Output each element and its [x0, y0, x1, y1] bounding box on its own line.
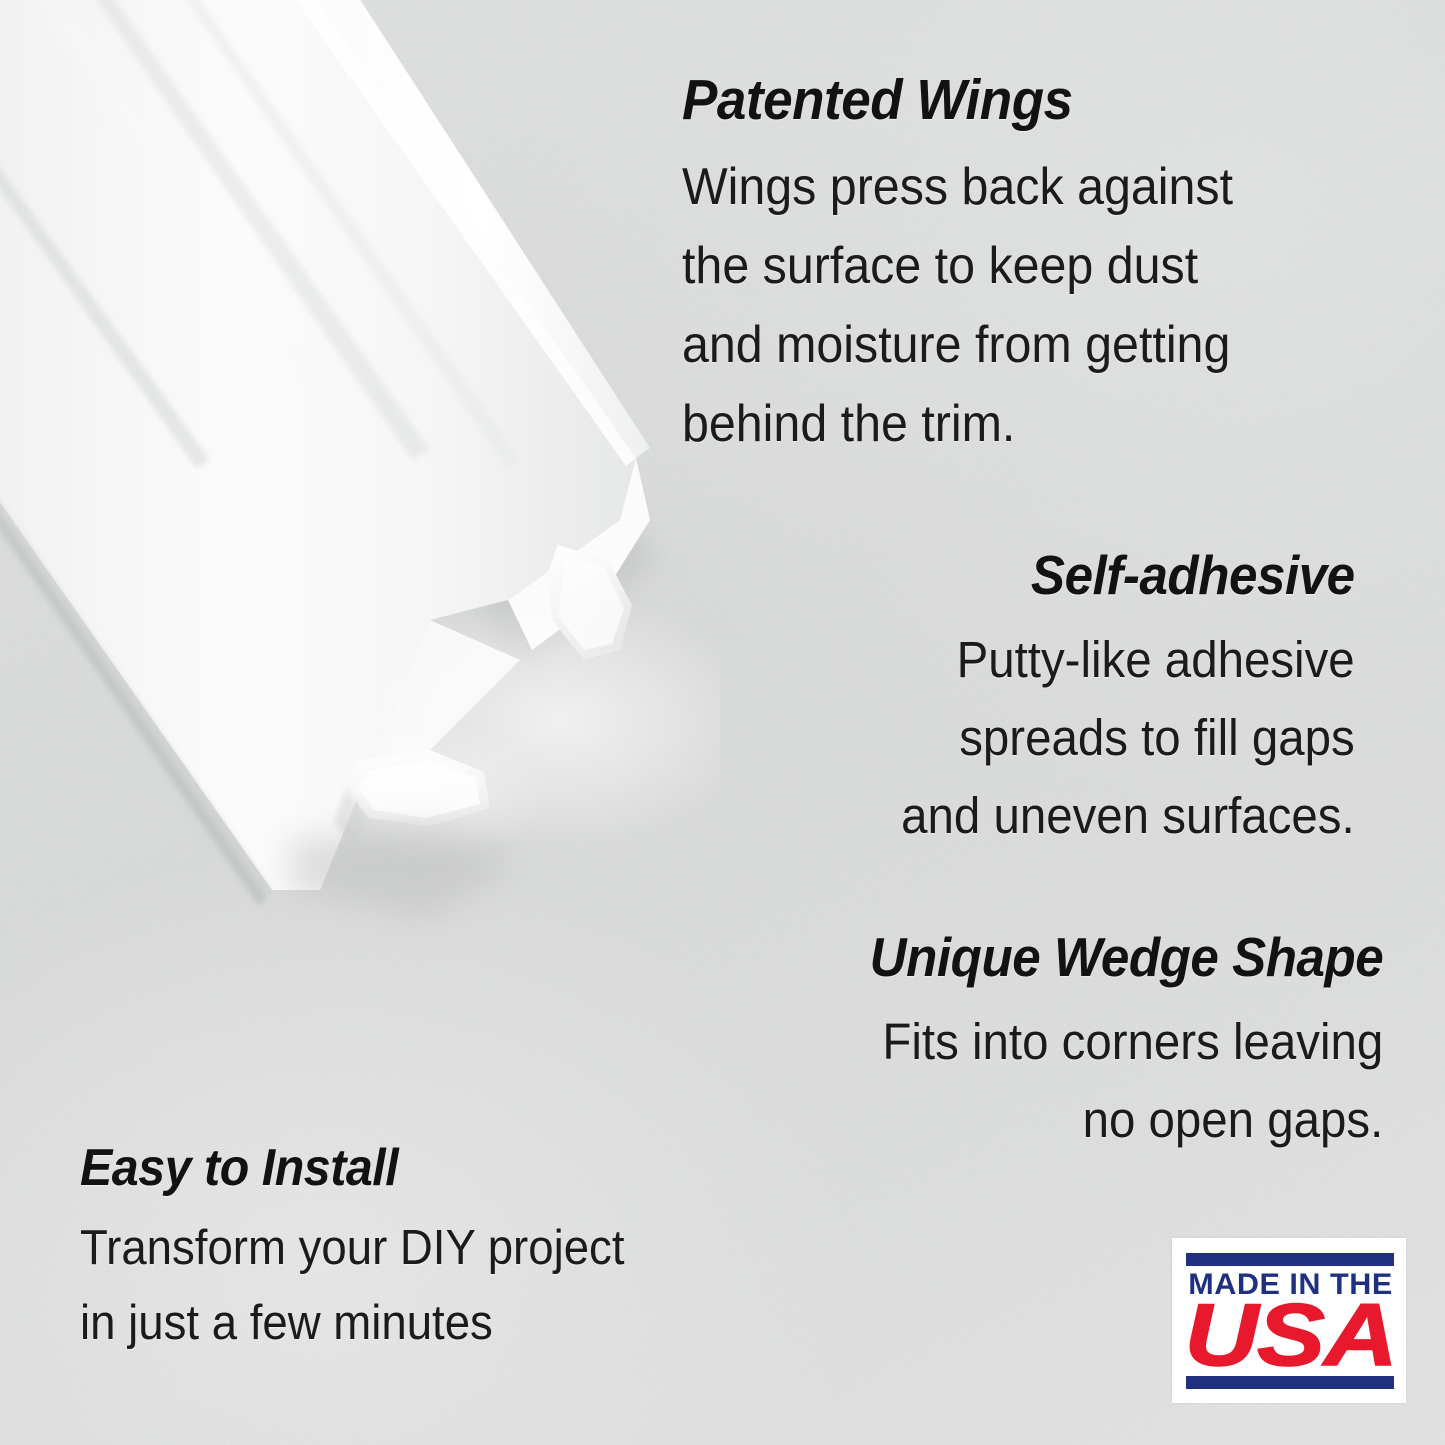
feature-line: the surface to keep dust — [682, 240, 1233, 292]
badge-usa-text: USA — [1168, 1296, 1413, 1374]
feature-line: no open gaps. — [869, 1094, 1383, 1145]
feature-block-unique-wedge-shape: Unique Wedge Shape Fits into corners lea… — [831, 930, 1383, 1145]
feature-line: Transform your DIY project — [80, 1224, 624, 1273]
product-photo — [0, 0, 720, 970]
feature-block-patented-wings: Patented Wings Wings press back against … — [682, 72, 1275, 450]
feature-heading-self-adhesive: Self-adhesive — [901, 548, 1355, 603]
feature-line: Fits into corners leaving — [869, 1016, 1383, 1067]
made-in-usa-badge: MADE IN THE USA — [1172, 1238, 1406, 1403]
feature-line: spreads to fill gaps — [901, 712, 1355, 763]
feature-line: Putty-like adhesive — [901, 634, 1355, 685]
feature-line: and uneven surfaces. — [901, 790, 1355, 841]
feature-block-self-adhesive: Self-adhesive Putty-like adhesive spread… — [867, 548, 1355, 841]
feature-line: in just a few minutes — [80, 1299, 624, 1348]
infographic-canvas: Patented Wings Wings press back against … — [0, 0, 1445, 1445]
feature-heading-easy-to-install: Easy to Install — [80, 1142, 624, 1194]
feature-line: and moisture from getting — [682, 319, 1233, 371]
feature-heading-patented-wings: Patented Wings — [682, 72, 1233, 129]
badge-bottom-bar — [1186, 1376, 1394, 1389]
feature-line: Wings press back against — [682, 161, 1233, 213]
feature-heading-unique-wedge-shape: Unique Wedge Shape — [869, 930, 1383, 985]
feature-line: behind the trim. — [682, 398, 1233, 450]
feature-block-easy-to-install: Easy to Install Transform your DIY proje… — [80, 1142, 665, 1348]
badge-top-bar — [1186, 1253, 1394, 1266]
